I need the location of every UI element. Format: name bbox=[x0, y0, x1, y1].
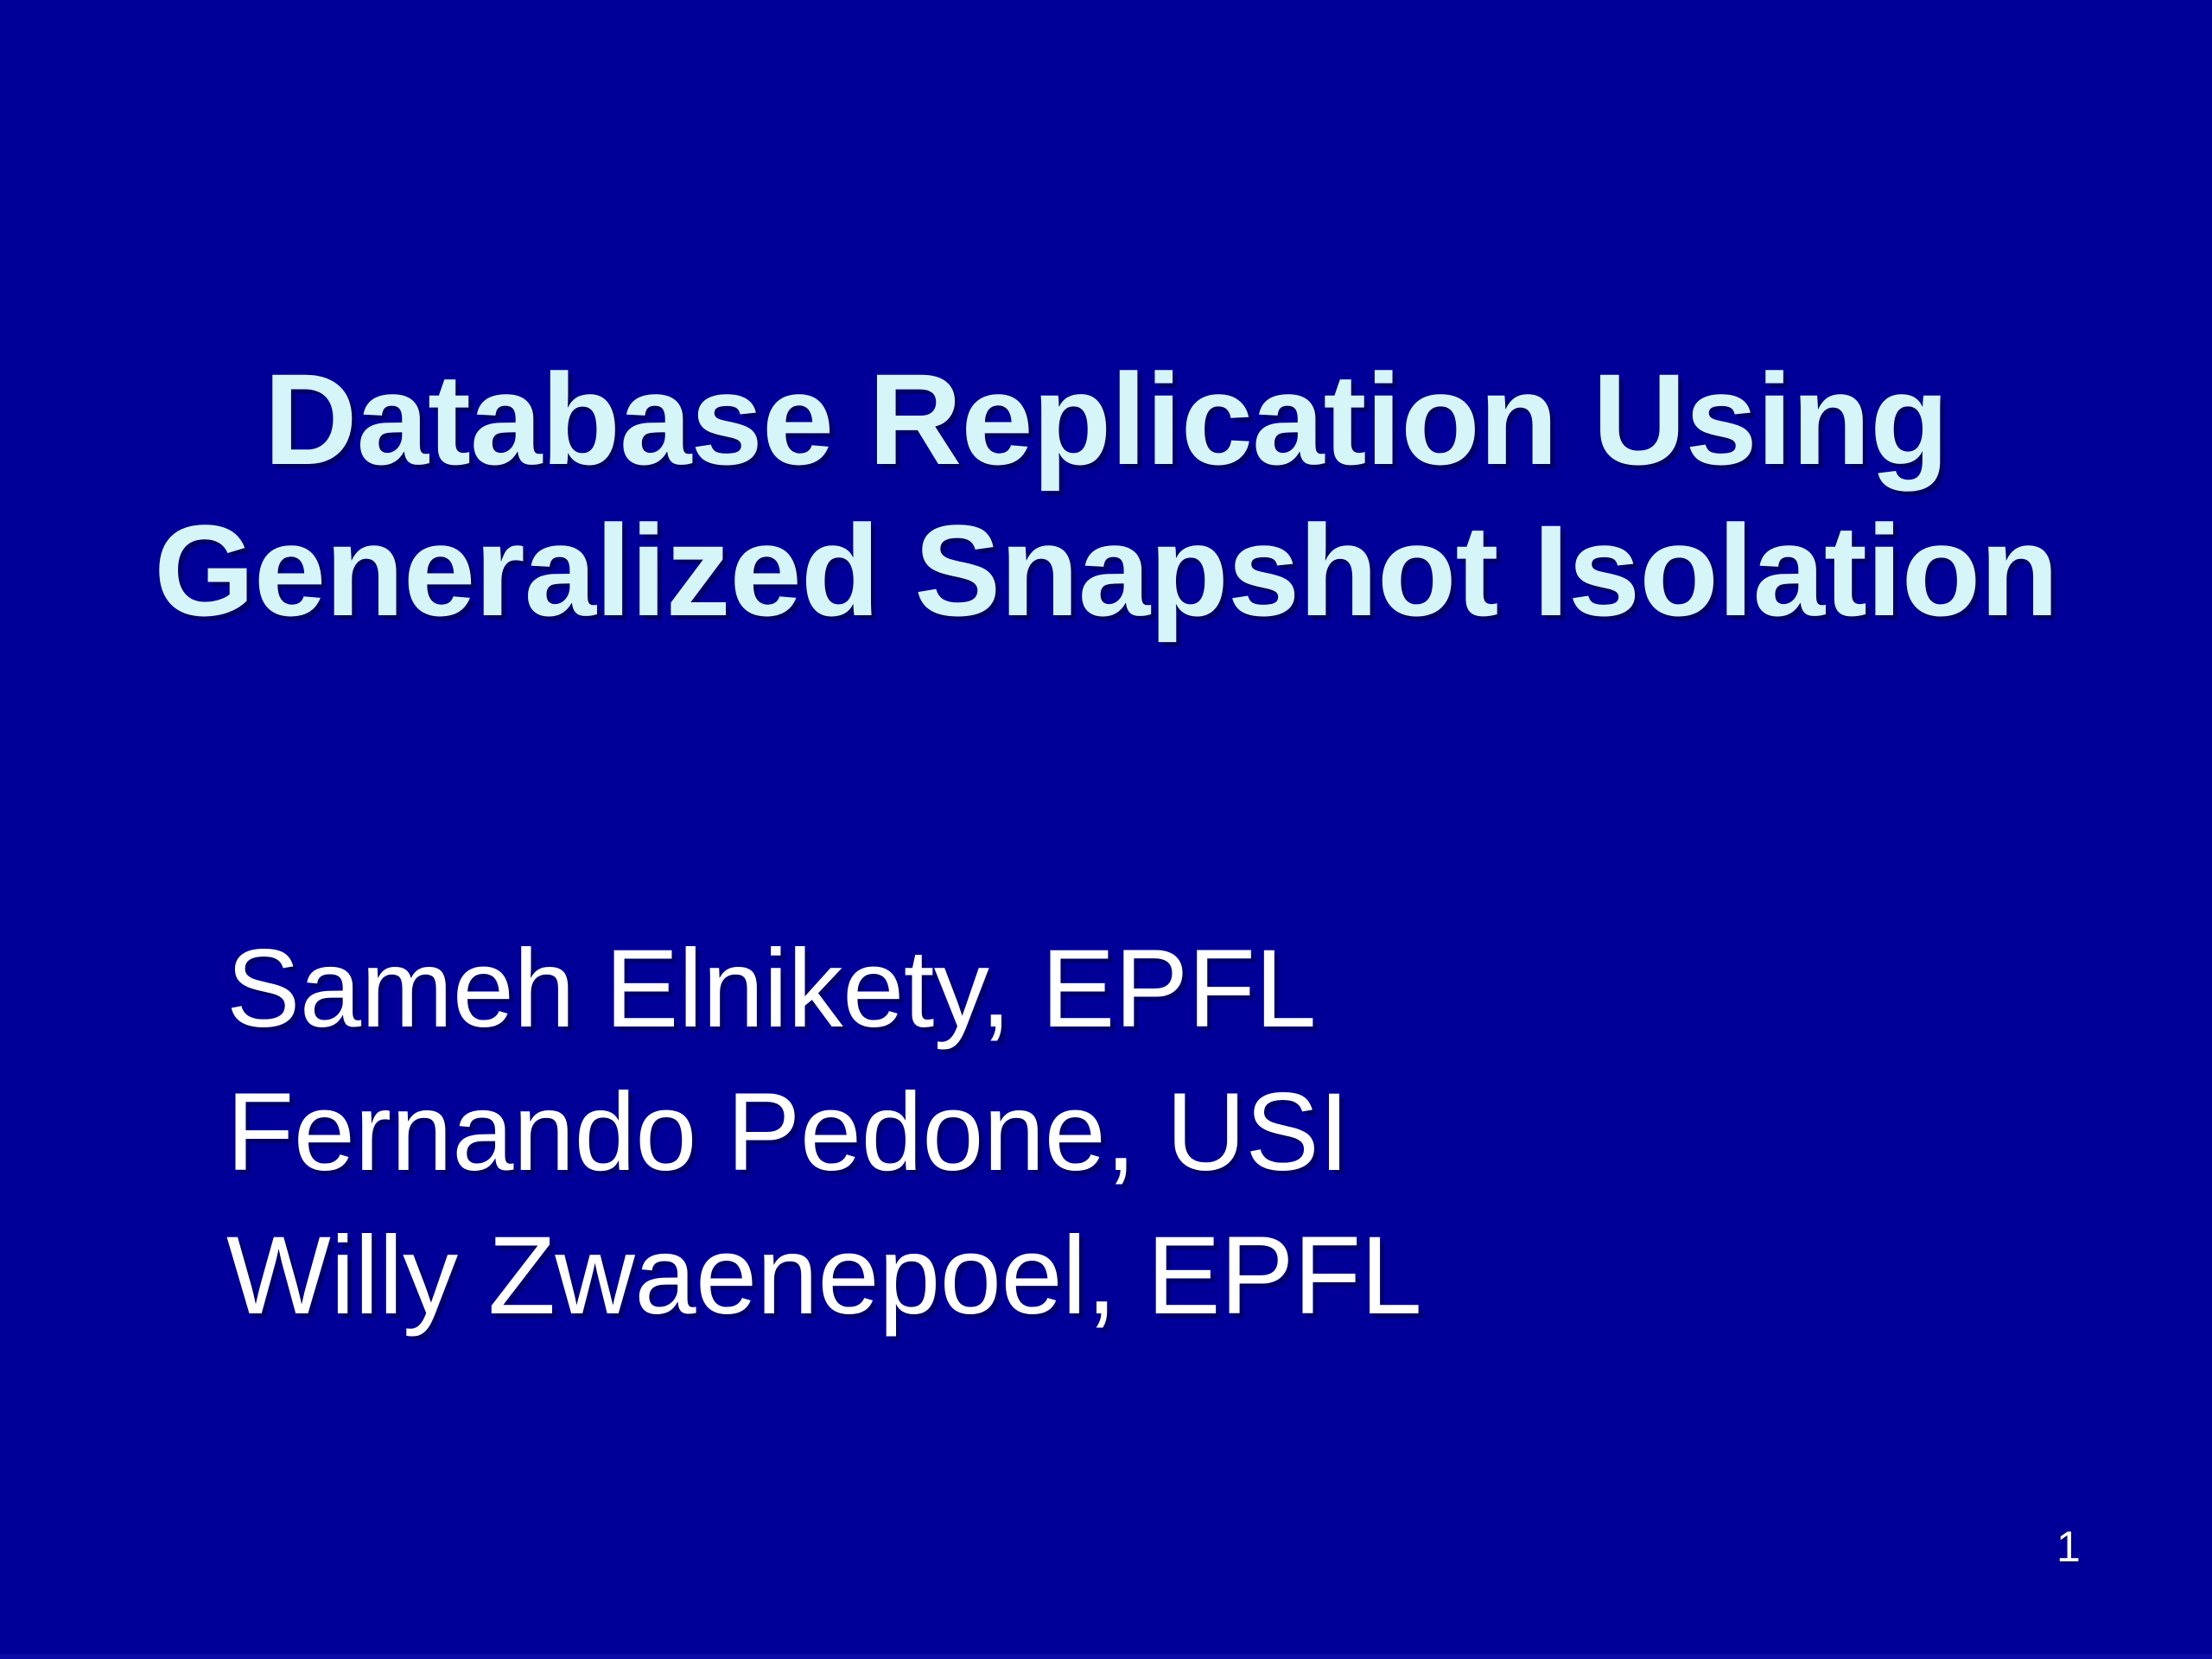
author-line-2: Fernando Pedone, USI bbox=[226, 1061, 1868, 1205]
slide-title: Database Replication Using Generalized S… bbox=[130, 344, 2082, 646]
author-line-1: Sameh Elnikety, EPFL bbox=[226, 918, 1868, 1061]
title-line-2: Generalized Snapshot Isolation bbox=[130, 495, 2082, 646]
slide-bottom-edge bbox=[0, 1654, 2212, 1659]
presentation-slide: Database Replication Using Generalized S… bbox=[0, 0, 2212, 1659]
title-line-1: Database Replication Using bbox=[130, 344, 2082, 495]
author-list: Sameh Elnikety, EPFL Fernando Pedone, US… bbox=[226, 918, 1868, 1348]
author-line-3: Willy Zwaenepoel, EPFL bbox=[226, 1205, 1868, 1348]
slide-number: 1 bbox=[2056, 1522, 2108, 1571]
